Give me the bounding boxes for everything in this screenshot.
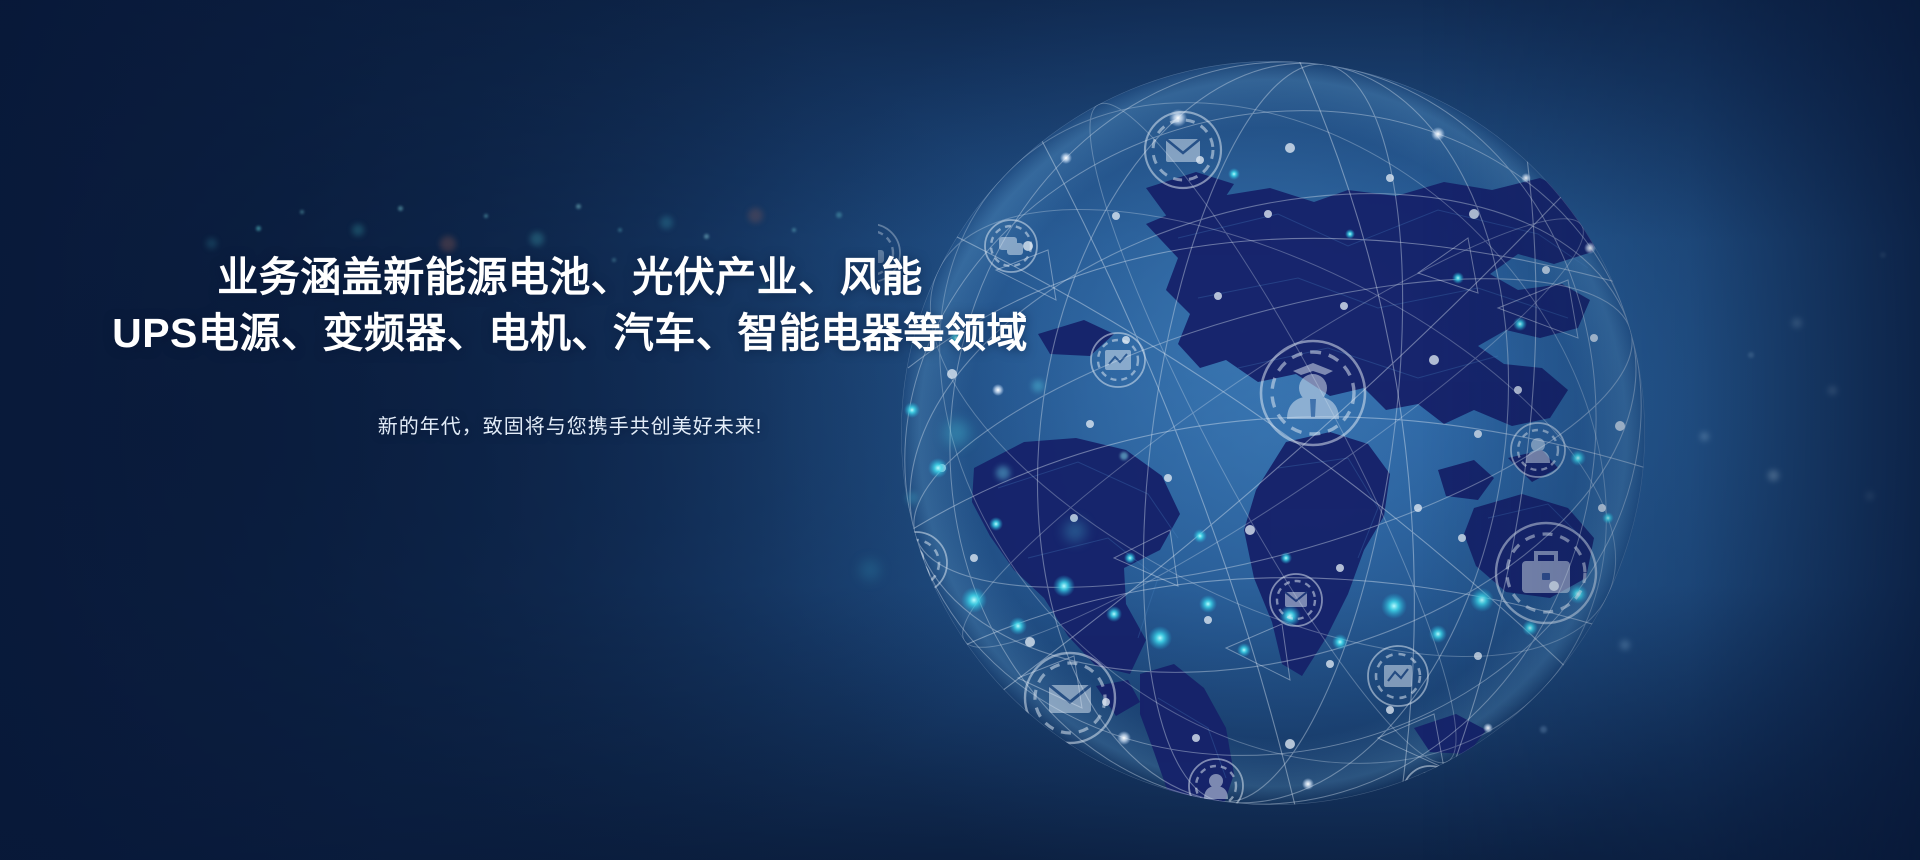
page-title: 业务涵盖新能源电池、光伏产业、风能 UPS电源、变频器、电机、汽车、智能电器等领…: [0, 250, 1140, 362]
headline-line-1: 业务涵盖新能源电池、光伏产业、风能: [217, 254, 923, 300]
banner-hero: 业务涵盖新能源电池、光伏产业、风能 UPS电源、变频器、电机、汽车、智能电器等领…: [0, 0, 1920, 860]
hero-copy: 业务涵盖新能源电池、光伏产业、风能 UPS电源、变频器、电机、汽车、智能电器等领…: [0, 250, 1140, 439]
headline-line-2: UPS电源、变频器、电机、汽车、智能电器等领域: [0, 306, 1140, 362]
page-subtitle: 新的年代，致固将与您携手共创美好未来!: [0, 410, 1140, 439]
